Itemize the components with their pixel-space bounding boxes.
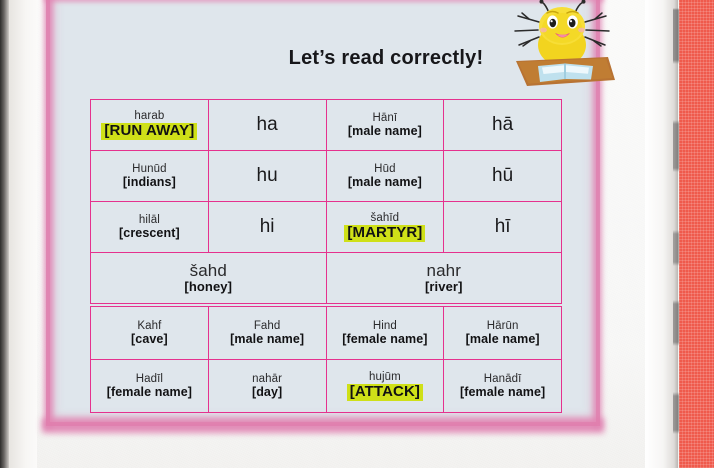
gloss-text: [honey] xyxy=(184,280,232,295)
transliteration-text: Fahd xyxy=(254,320,281,333)
transliteration-text: Hind xyxy=(373,320,397,333)
transliteration-text: nahr xyxy=(427,261,461,280)
transliteration-text: šahīd xyxy=(371,212,400,225)
gloss-text: [female name] xyxy=(342,332,427,346)
transliteration-text: šahd xyxy=(190,261,227,280)
table-row: Hunūd [indians] hu Hūd [male name] xyxy=(91,151,562,202)
gloss-text-highlighted: [RUN AWAY] xyxy=(101,123,197,141)
gloss-text: [crescent] xyxy=(119,226,180,240)
syllable-text: hī xyxy=(495,216,511,237)
transliteration-text: hujūm xyxy=(369,371,401,384)
transliteration-text: Kahf xyxy=(137,320,161,333)
table-cell-wide-word[interactable]: nahr [river] xyxy=(326,253,562,304)
table-cell-word[interactable]: Hind [female name] xyxy=(326,307,444,360)
transliteration-text: Hunūd xyxy=(132,163,166,176)
gloss-text-highlighted: [ATTACK] xyxy=(347,384,423,402)
table-cell-wide-word[interactable]: šahd [honey] xyxy=(91,253,327,304)
transliteration-text: nahār xyxy=(252,373,282,386)
tables-region: harab [RUN AWAY] ha Hānī [male name] xyxy=(0,0,714,468)
table-cell-word[interactable]: Hadīl [female name] xyxy=(91,360,209,413)
table-cell-word[interactable]: Hārūn [male name] xyxy=(444,307,562,360)
table-cell-syllable[interactable]: hī xyxy=(444,202,562,253)
word-table-one: harab [RUN AWAY] ha Hānī [male name] xyxy=(90,99,562,304)
table-cell-word[interactable]: Hūd [male name] xyxy=(326,151,444,202)
table-cell-word[interactable]: Hanādī [female name] xyxy=(444,360,562,413)
table-cell-word[interactable]: hilāl [crescent] xyxy=(91,202,209,253)
gloss-text: [male name] xyxy=(348,175,422,189)
gloss-text: [day] xyxy=(252,385,282,399)
table-row: harab [RUN AWAY] ha Hānī [male name] xyxy=(91,100,562,151)
gloss-text: [female name] xyxy=(460,385,545,399)
gloss-text: [river] xyxy=(425,280,463,295)
table-cell-syllable[interactable]: hā xyxy=(444,100,562,151)
table-cell-syllable[interactable]: hi xyxy=(208,202,326,253)
book-page-root: Let’s read correctly! xyxy=(0,0,714,468)
table-cell-word[interactable]: harab [RUN AWAY] xyxy=(91,100,209,151)
transliteration-text: Hadīl xyxy=(136,373,163,386)
gloss-text: [female name] xyxy=(107,385,192,399)
table-row: Hadīl [female name] nahār [day] hujūm xyxy=(91,360,562,413)
table-cell-syllable[interactable]: hū xyxy=(444,151,562,202)
syllable-text: hā xyxy=(492,114,513,135)
word-table-two: Kahf [cave] Fahd [male name] Hind xyxy=(90,306,562,413)
table-cell-word[interactable]: Hunūd [indians] xyxy=(91,151,209,202)
table-cell-word[interactable]: šahīd [MARTYR] xyxy=(326,202,444,253)
syllable-text: hū xyxy=(492,165,513,186)
table-row: šahd [honey] nahr [river] xyxy=(91,253,562,304)
transliteration-text: harab xyxy=(134,110,164,123)
gloss-text: [male name] xyxy=(348,124,422,138)
table-cell-syllable[interactable]: ha xyxy=(208,100,326,151)
gloss-text: [cave] xyxy=(131,332,168,346)
transliteration-text: Hūd xyxy=(374,163,395,176)
table-cell-word[interactable]: Fahd [male name] xyxy=(208,307,326,360)
gloss-text: [male name] xyxy=(466,332,540,346)
transliteration-text: hilāl xyxy=(139,214,160,227)
transliteration-text: Hārūn xyxy=(487,320,519,333)
table-row: Kahf [cave] Fahd [male name] Hind xyxy=(91,307,562,360)
table-cell-syllable[interactable]: hu xyxy=(208,151,326,202)
syllable-text: ha xyxy=(257,114,278,135)
table-cell-word[interactable]: Hānī [male name] xyxy=(326,100,444,151)
gloss-text: [male name] xyxy=(230,332,304,346)
gloss-text-highlighted: [MARTYR] xyxy=(344,225,425,243)
table-cell-word[interactable]: Kahf [cave] xyxy=(91,307,209,360)
gloss-text: [indians] xyxy=(123,175,176,189)
table-cell-word[interactable]: nahār [day] xyxy=(208,360,326,413)
transliteration-text: Hānī xyxy=(373,112,398,125)
transliteration-text: Hanādī xyxy=(484,373,522,386)
table-row: hilāl [crescent] hi šahīd [MARTYR] xyxy=(91,202,562,253)
syllable-text: hi xyxy=(260,216,275,237)
syllable-text: hu xyxy=(257,165,278,186)
table-cell-word[interactable]: hujūm [ATTACK] xyxy=(326,360,444,413)
